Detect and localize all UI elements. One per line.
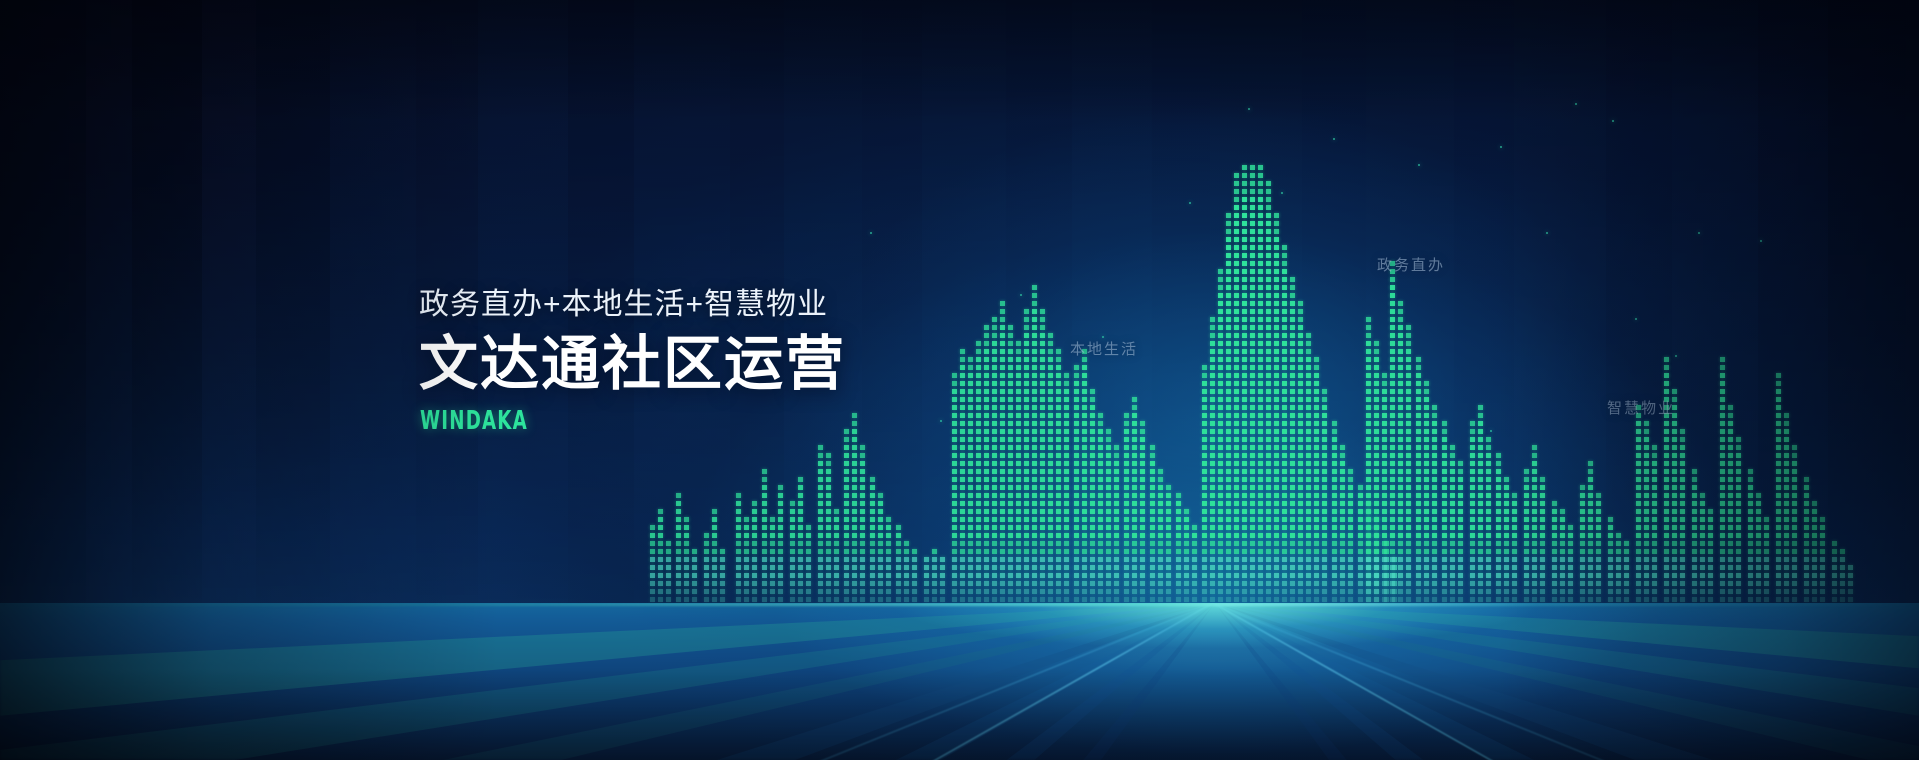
- skyline-dot: [1250, 229, 1255, 234]
- skyline-dot: [1348, 469, 1353, 474]
- skyline-dot: [896, 525, 901, 530]
- skyline-dot: [1708, 565, 1713, 570]
- skyline-dot: [1000, 437, 1005, 442]
- skyline-dot: [1056, 469, 1061, 474]
- skyline-dot: [1458, 477, 1463, 482]
- skyline-dot: [992, 541, 997, 546]
- skyline-dot: [1008, 429, 1013, 434]
- skyline-dot: [1398, 301, 1403, 306]
- skyline-dot: [1032, 477, 1037, 482]
- skyline-dot: [1692, 509, 1697, 514]
- skyline-dot: [1250, 197, 1255, 202]
- skyline-dot: [676, 517, 681, 522]
- skyline-dot: [1636, 437, 1641, 442]
- skyline-dot: [1652, 485, 1657, 490]
- skyline-dot: [1242, 285, 1247, 290]
- skyline-dot: [692, 597, 697, 602]
- skyline-dot: [1692, 485, 1697, 490]
- skyline-dot: [1700, 549, 1705, 554]
- skyline-dot: [1672, 485, 1677, 490]
- skyline-dot: [1470, 501, 1475, 506]
- skyline-dot: [1274, 549, 1279, 554]
- skyline-dot: [1132, 469, 1137, 474]
- skyline-dot: [1524, 477, 1529, 482]
- skyline-dot: [1736, 509, 1741, 514]
- skyline-dot: [1432, 565, 1437, 570]
- skyline-column: [1040, 304, 1045, 610]
- skyline-dot: [770, 557, 775, 562]
- skyline-dot: [1016, 573, 1021, 578]
- skyline-dot: [1382, 517, 1387, 522]
- skyline-dot: [1242, 581, 1247, 586]
- skyline-dot: [1064, 557, 1069, 562]
- skyline-dot: [1366, 485, 1371, 490]
- skyline-dot: [1032, 573, 1037, 578]
- skyline-column: [1764, 508, 1769, 610]
- skyline-dot: [1728, 573, 1733, 578]
- skyline-dot: [1234, 597, 1239, 602]
- skyline-dot: [744, 517, 749, 522]
- skyline-dot: [712, 517, 717, 522]
- skyline-dot: [1322, 461, 1327, 466]
- skyline-dot: [826, 581, 831, 586]
- skyline-dot: [976, 581, 981, 586]
- skyline-dot: [976, 461, 981, 466]
- skyline-dot: [1056, 461, 1061, 466]
- skyline-dot: [1000, 341, 1005, 346]
- skyline-dot: [1258, 205, 1263, 210]
- skyline-dot: [1784, 461, 1789, 466]
- skyline-dot: [1258, 229, 1263, 234]
- skyline-dot: [1282, 445, 1287, 450]
- skyline-dot: [1540, 597, 1545, 602]
- skyline-dot: [1242, 293, 1247, 298]
- skyline-dot: [844, 597, 849, 602]
- skyline-dot: [844, 453, 849, 458]
- skyline-dot: [1366, 597, 1371, 602]
- skyline-dot: [1306, 533, 1311, 538]
- skyline-dot: [1748, 509, 1753, 514]
- skyline-dot: [1496, 461, 1501, 466]
- skyline-dot: [752, 589, 757, 594]
- skyline-dot: [984, 517, 989, 522]
- skyline-dot: [1234, 421, 1239, 426]
- skyline-dot: [1314, 565, 1319, 570]
- skyline-dot: [1486, 573, 1491, 578]
- skyline-dot: [1210, 501, 1215, 506]
- skyline-dot: [1720, 597, 1725, 602]
- skyline-dot: [1226, 493, 1231, 498]
- skyline-dot: [1406, 421, 1411, 426]
- skyline-dot: [1008, 405, 1013, 410]
- skyline-dot: [852, 445, 857, 450]
- skyline-dot: [1322, 517, 1327, 522]
- skyline-dot: [1532, 501, 1537, 506]
- skyline-dot: [1290, 389, 1295, 394]
- skyline-dot: [1340, 589, 1345, 594]
- skyline-dot: [1664, 549, 1669, 554]
- skyline-dot: [1478, 421, 1483, 426]
- skyline-dot: [1282, 453, 1287, 458]
- skyline-dot: [1306, 373, 1311, 378]
- skyline-dot: [1008, 477, 1013, 482]
- skyline-dot: [852, 477, 857, 482]
- skyline-dot: [826, 501, 831, 506]
- skyline-dot: [658, 509, 663, 514]
- skyline-dot: [1776, 389, 1781, 394]
- skyline-dot: [1720, 581, 1725, 586]
- skyline-dot: [1250, 413, 1255, 418]
- skyline-column: [1406, 322, 1411, 610]
- skyline-dot: [1106, 437, 1111, 442]
- skyline-dot: [1720, 365, 1725, 370]
- skyline-dot: [744, 597, 749, 602]
- skyline-dot: [1140, 525, 1145, 530]
- skyline-dot: [1242, 245, 1247, 250]
- skyline-dot: [1282, 581, 1287, 586]
- skyline-dot: [852, 549, 857, 554]
- skyline-dot: [1150, 517, 1155, 522]
- skyline-dot: [1366, 413, 1371, 418]
- skyline-dot: [1098, 445, 1103, 450]
- skyline-dot: [1298, 341, 1303, 346]
- skyline-dot: [1082, 493, 1087, 498]
- skyline-dot: [1274, 213, 1279, 218]
- skyline-dot: [1150, 581, 1155, 586]
- skyline-dot: [1306, 349, 1311, 354]
- skyline-dot: [762, 525, 767, 530]
- skyline-dot: [1106, 477, 1111, 482]
- skyline-dot: [1568, 533, 1573, 538]
- skyline-dot: [1340, 525, 1345, 530]
- skyline-dot: [1040, 557, 1045, 562]
- skyline-dot: [1234, 269, 1239, 274]
- skyline-dot: [1106, 573, 1111, 578]
- skyline-dot: [1008, 461, 1013, 466]
- skyline-dot: [1486, 589, 1491, 594]
- skyline-dot: [1406, 325, 1411, 330]
- skyline-dot: [1234, 213, 1239, 218]
- skyline-dot: [1090, 589, 1095, 594]
- skyline-dot: [1432, 437, 1437, 442]
- skyline-dot: [1624, 565, 1629, 570]
- skyline-dot: [1040, 493, 1045, 498]
- skyline-dot: [976, 365, 981, 370]
- skyline-dot: [992, 509, 997, 514]
- skyline-dot: [1258, 581, 1263, 586]
- skyline-dot: [1580, 493, 1585, 498]
- skyline-dot: [1274, 237, 1279, 242]
- skyline-column: [834, 502, 839, 610]
- skyline-dot: [1226, 413, 1231, 418]
- skyline-dot: [1234, 205, 1239, 210]
- skyline-dot: [968, 389, 973, 394]
- skyline-dot: [818, 461, 823, 466]
- skyline-column: [744, 510, 749, 610]
- skyline-dot: [1664, 445, 1669, 450]
- skyline-dot: [658, 525, 663, 530]
- skyline-dot: [1568, 525, 1573, 530]
- skyline-dot: [1258, 173, 1263, 178]
- skyline-dot: [1124, 429, 1129, 434]
- skyline-dot: [1218, 469, 1223, 474]
- skyline-column: [1478, 396, 1483, 610]
- skyline-dot: [968, 485, 973, 490]
- skyline-dot: [886, 549, 891, 554]
- skyline-dot: [650, 541, 655, 546]
- skyline-dot: [1332, 469, 1337, 474]
- skyline-dot: [844, 461, 849, 466]
- skyline-dot: [1332, 493, 1337, 498]
- skyline-dot: [1290, 277, 1295, 282]
- skyline-dot: [870, 565, 875, 570]
- skyline-dot: [1540, 533, 1545, 538]
- skyline-dot: [1406, 413, 1411, 418]
- skyline-dot: [1210, 453, 1215, 458]
- skyline-dot: [1692, 581, 1697, 586]
- skyline-dot: [684, 549, 689, 554]
- skyline-dot: [1390, 365, 1395, 370]
- skyline-dot: [1416, 581, 1421, 586]
- skyline-dot: [1406, 533, 1411, 538]
- skyline-dot: [1114, 501, 1119, 506]
- skyline-dot: [878, 501, 883, 506]
- skyline-dot: [1358, 525, 1363, 530]
- skyline-dot: [1290, 301, 1295, 306]
- skyline-dot: [1424, 581, 1429, 586]
- skyline-dot: [1290, 349, 1295, 354]
- skyline-dot: [968, 533, 973, 538]
- skyline-dot: [1098, 477, 1103, 482]
- skyline-dot: [1756, 549, 1761, 554]
- skyline-dot: [1636, 597, 1641, 602]
- skyline-dot: [1580, 501, 1585, 506]
- skyline-dot: [736, 517, 741, 522]
- skyline-dot: [1008, 493, 1013, 498]
- skyline-dot: [976, 453, 981, 458]
- skyline-dot: [1234, 229, 1239, 234]
- skyline-dot: [1056, 557, 1061, 562]
- skyline-dot: [1258, 333, 1263, 338]
- skyline-dot: [1290, 317, 1295, 322]
- skyline-dot: [1298, 541, 1303, 546]
- skyline-dot: [834, 565, 839, 570]
- skyline-dot: [1588, 461, 1593, 466]
- skyline-dot: [1776, 597, 1781, 602]
- skyline-dot: [1202, 421, 1207, 426]
- skyline-dot: [1720, 533, 1725, 538]
- skyline-dot: [1792, 581, 1797, 586]
- skyline-dot: [736, 573, 741, 578]
- skyline-dot: [1672, 437, 1677, 442]
- skyline-dot: [1274, 229, 1279, 234]
- skyline-dot: [1848, 573, 1853, 578]
- skyline-dot: [762, 477, 767, 482]
- skyline-dot: [1450, 509, 1455, 514]
- skyline-dot: [1226, 309, 1231, 314]
- skyline-dot: [1390, 461, 1395, 466]
- skyline-dot: [1226, 437, 1231, 442]
- skyline-dot: [1016, 389, 1021, 394]
- skyline-dot: [1652, 469, 1657, 474]
- skyline-dot: [1056, 357, 1061, 362]
- skyline-dot: [1234, 493, 1239, 498]
- skyline-dot: [1616, 573, 1621, 578]
- skyline-dot: [1748, 501, 1753, 506]
- skyline-dot: [904, 573, 909, 578]
- skyline-dot: [860, 445, 865, 450]
- skyline-dot: [1366, 509, 1371, 514]
- skyline-dot: [826, 541, 831, 546]
- skyline-dot: [1282, 557, 1287, 562]
- skyline-column: [1672, 386, 1677, 610]
- skyline-dot: [1736, 469, 1741, 474]
- skyline-dot: [1390, 349, 1395, 354]
- skyline-dot: [1442, 597, 1447, 602]
- skyline-dot: [744, 533, 749, 538]
- skyline-dot: [1406, 597, 1411, 602]
- skyline-column: [1082, 342, 1087, 610]
- skyline-dot: [1756, 541, 1761, 546]
- skyline-dot: [1664, 533, 1669, 538]
- skyline-column: [1624, 536, 1629, 610]
- skyline-dot: [1218, 421, 1223, 426]
- skyline-dot: [1202, 509, 1207, 514]
- skyline-dot: [1728, 437, 1733, 442]
- skyline-dot: [1636, 557, 1641, 562]
- skyline-dot: [692, 557, 697, 562]
- skyline-dot: [1106, 485, 1111, 490]
- skyline-dot: [1486, 525, 1491, 530]
- skyline-dot: [1098, 453, 1103, 458]
- skyline-dot: [1290, 517, 1295, 522]
- skyline-dot: [960, 389, 965, 394]
- skyline-dot: [1140, 589, 1145, 594]
- skyline-dot: [1266, 565, 1271, 570]
- skyline-dot: [1192, 597, 1197, 602]
- skyline-dot: [1784, 437, 1789, 442]
- skyline-dot: [1764, 581, 1769, 586]
- skyline-dot: [1258, 245, 1263, 250]
- skyline-column: [924, 554, 929, 610]
- skyline-dot: [658, 581, 663, 586]
- skyline-dot: [1150, 445, 1155, 450]
- skyline-dot: [1040, 453, 1045, 458]
- skyline-dot: [1048, 565, 1053, 570]
- skyline-dot: [1242, 413, 1247, 418]
- skyline-dot: [878, 493, 883, 498]
- skyline-dot: [1274, 525, 1279, 530]
- skyline-dot: [1258, 213, 1263, 218]
- skyline-dot: [1306, 389, 1311, 394]
- skyline-dot: [1210, 333, 1215, 338]
- skyline-dot: [968, 397, 973, 402]
- skyline-dot: [1064, 397, 1069, 402]
- skyline-dot: [1226, 357, 1231, 362]
- skyline-dot: [1728, 517, 1733, 522]
- skyline-dot: [1756, 501, 1761, 506]
- skyline-dot: [798, 517, 803, 522]
- skyline-dot: [704, 589, 709, 594]
- skyline-dot: [1024, 509, 1029, 514]
- skyline-dot: [1382, 533, 1387, 538]
- skyline-dot: [1442, 517, 1447, 522]
- skyline-dot: [1048, 381, 1053, 386]
- skyline-dot: [1450, 533, 1455, 538]
- skyline-dot: [1416, 565, 1421, 570]
- skyline-dot: [1150, 485, 1155, 490]
- skyline-dot: [852, 421, 857, 426]
- skyline-dot: [1720, 493, 1725, 498]
- skyline-dot: [1242, 341, 1247, 346]
- skyline-dot: [1158, 533, 1163, 538]
- skyline-dot: [1432, 469, 1437, 474]
- skyline-dot: [1652, 533, 1657, 538]
- skyline-dot: [1664, 597, 1669, 602]
- skyline-dot: [650, 525, 655, 530]
- skyline-dot: [968, 549, 973, 554]
- skyline-dot: [1024, 341, 1029, 346]
- skyline-dot: [1226, 509, 1231, 514]
- skyline-dot: [1406, 397, 1411, 402]
- skyline-dot: [1290, 453, 1295, 458]
- skyline-dot: [762, 581, 767, 586]
- skyline-dot: [770, 581, 775, 586]
- sparkle-dot: [1500, 146, 1502, 148]
- skyline-dot: [1140, 429, 1145, 434]
- skyline-dot: [1314, 405, 1319, 410]
- skyline-dot: [1728, 549, 1733, 554]
- skyline-dot: [1074, 525, 1079, 530]
- skyline-dot: [1560, 517, 1565, 522]
- skyline-dot: [1290, 525, 1295, 530]
- skyline-dot: [1000, 557, 1005, 562]
- skyline-dot: [852, 533, 857, 538]
- skyline-dot: [1082, 421, 1087, 426]
- skyline-dot: [736, 589, 741, 594]
- skyline-dot: [1458, 525, 1463, 530]
- skyline-dot: [1250, 269, 1255, 274]
- skyline-column: [1736, 434, 1741, 610]
- skyline-dot: [1588, 581, 1593, 586]
- skyline-dot: [1274, 517, 1279, 522]
- skyline-dot: [1776, 405, 1781, 410]
- skyline-dot: [984, 549, 989, 554]
- skyline-dot: [1322, 453, 1327, 458]
- skyline-dot: [1382, 445, 1387, 450]
- skyline-dot: [1374, 597, 1379, 602]
- skyline-dot: [1202, 597, 1207, 602]
- skyline-dot: [1478, 517, 1483, 522]
- skyline-dot: [704, 533, 709, 538]
- skyline-dot: [1792, 541, 1797, 546]
- skyline-dot: [852, 501, 857, 506]
- skyline-dot: [712, 549, 717, 554]
- skyline-dot: [976, 437, 981, 442]
- skyline-dot: [1192, 565, 1197, 570]
- skyline-dot: [1664, 461, 1669, 466]
- skyline-column: [1008, 320, 1013, 610]
- skyline-dot: [1250, 493, 1255, 498]
- skyline-dot: [1274, 269, 1279, 274]
- skyline-dot: [1424, 573, 1429, 578]
- skyline-dot: [1298, 597, 1303, 602]
- skyline-dot: [1192, 533, 1197, 538]
- skyline-dot: [1406, 493, 1411, 498]
- skyline-dot: [904, 589, 909, 594]
- skyline-dot: [1624, 557, 1629, 562]
- skyline-dot: [1748, 525, 1753, 530]
